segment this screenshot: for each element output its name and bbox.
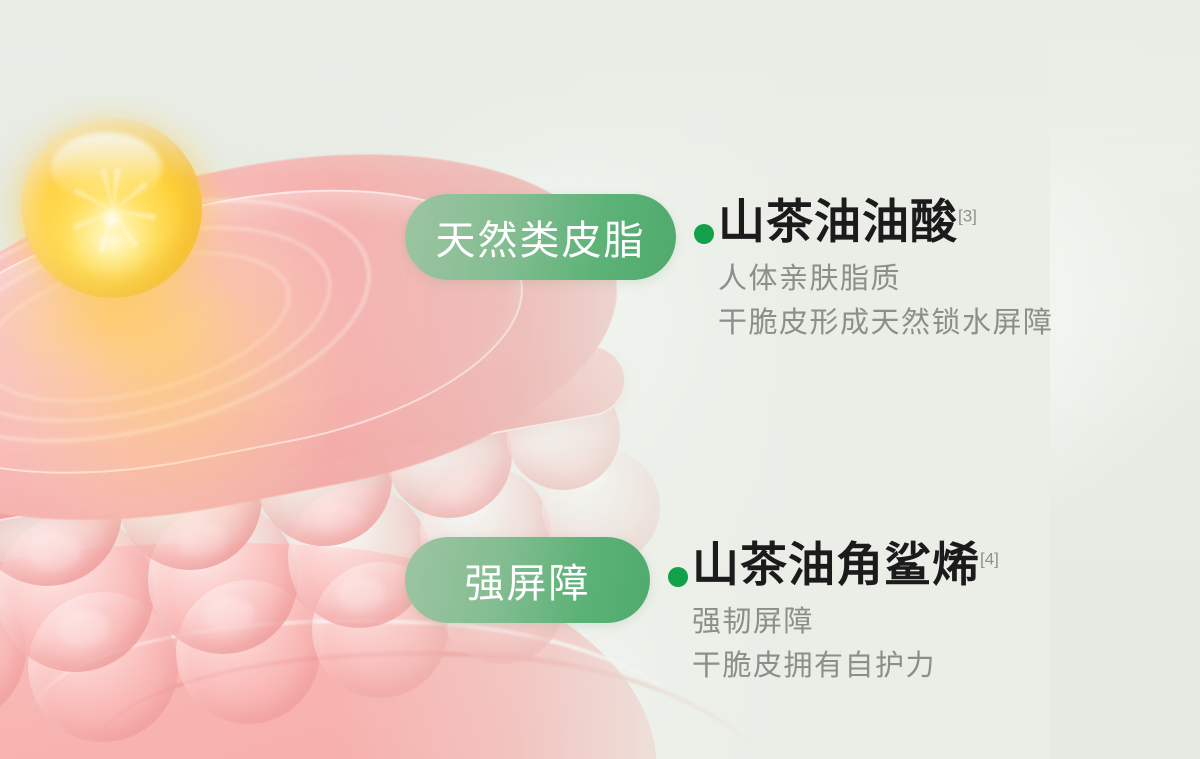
feature-superscript-1: [3] bbox=[958, 206, 977, 225]
feature-block-1: 天然类皮脂 山茶油油酸[3] 人体亲肤脂质 干脆皮形成天然锁水屏障 bbox=[405, 194, 1054, 345]
feature-heading-1-text: 山茶油油酸[3] bbox=[718, 196, 977, 249]
feature-badge-2: 强屏障 bbox=[405, 537, 650, 623]
feature-superscript-2: [4] bbox=[980, 549, 999, 568]
feature-heading-2-label: 山茶油角鲨烯 bbox=[692, 538, 980, 591]
feature-sublines-1: 人体亲肤脂质 干脆皮形成天然锁水屏障 bbox=[718, 257, 1054, 345]
feature-subline: 干脆皮拥有自护力 bbox=[692, 644, 999, 688]
bullet-dot-icon bbox=[694, 224, 714, 244]
feature-headline-1: 山茶油油酸[3] bbox=[694, 196, 1054, 249]
feature-subline: 人体亲肤脂质 bbox=[718, 257, 1054, 301]
feature-sublines-2: 强韧屏障 干脆皮拥有自护力 bbox=[692, 600, 999, 688]
feature-badge-1: 天然类皮脂 bbox=[405, 194, 676, 280]
product-feature-banner: 天然类皮脂 山茶油油酸[3] 人体亲肤脂质 干脆皮形成天然锁水屏障 强屏障 山茶… bbox=[0, 0, 1200, 759]
bullet-dot-icon bbox=[668, 567, 688, 587]
feature-text-1: 山茶油油酸[3] 人体亲肤脂质 干脆皮形成天然锁水屏障 bbox=[694, 194, 1054, 345]
gold-sparkle-burst-icon bbox=[70, 168, 156, 254]
feature-headline-2: 山茶油角鲨烯[4] bbox=[668, 539, 999, 592]
feature-block-2: 强屏障 山茶油角鲨烯[4] 强韧屏障 干脆皮拥有自护力 bbox=[405, 537, 999, 688]
feature-heading-2-text: 山茶油角鲨烯[4] bbox=[692, 539, 999, 592]
feature-subline: 强韧屏障 bbox=[692, 600, 999, 644]
feature-text-2: 山茶油角鲨烯[4] 强韧屏障 干脆皮拥有自护力 bbox=[668, 537, 999, 688]
feature-subline: 干脆皮形成天然锁水屏障 bbox=[718, 301, 1054, 345]
feature-heading-1-label: 山茶油油酸 bbox=[718, 195, 958, 248]
